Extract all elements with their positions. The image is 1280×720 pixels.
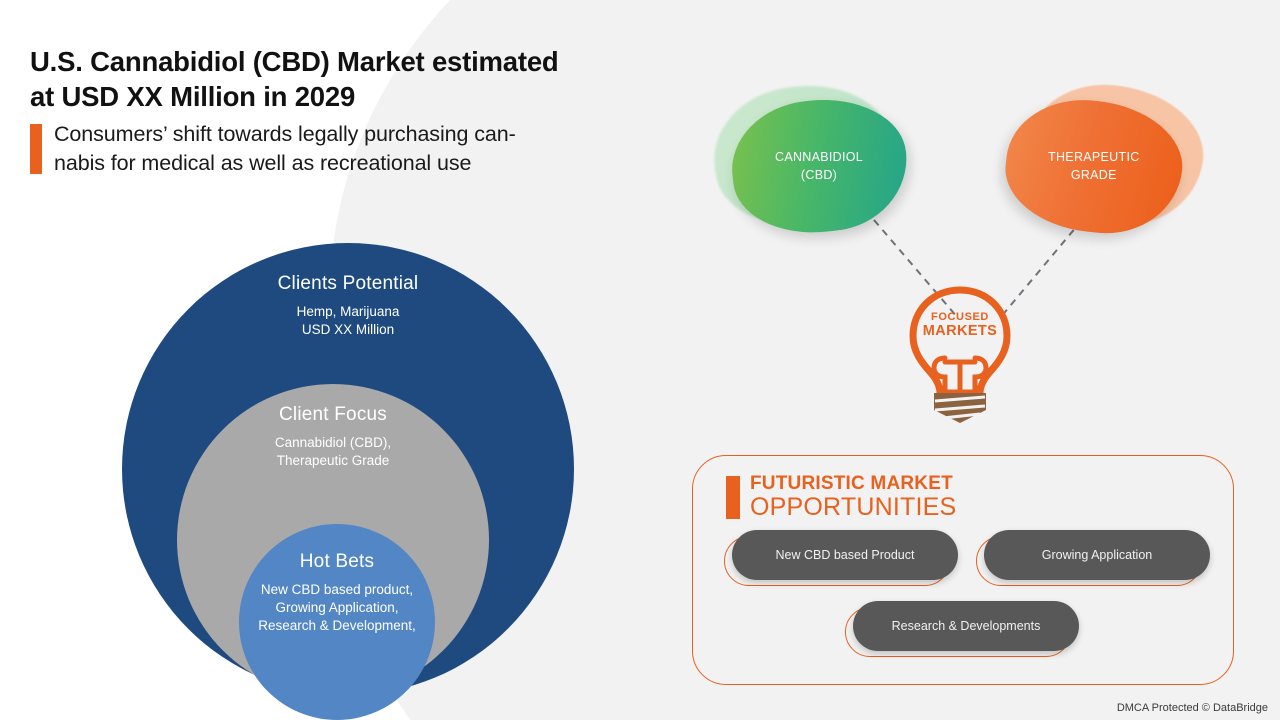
focus-blob-cannabidiol[interactable]: CANNABIDIOL (CBD): [712, 88, 912, 238]
panel-title: FUTURISTIC MARKET OPPORTUNITIES: [750, 474, 956, 520]
focus-blob-cannabidiol-line-1: CANNABIDIOL: [775, 150, 863, 164]
page-title-line-1: U.S. Cannabidiol (CBD) Market estimated: [30, 46, 559, 77]
circle-clients-potential-detail-line-1: Hemp, Marijuana: [297, 304, 400, 319]
circle-hot-bets[interactable]: Hot Bets New CBD based product, Growing …: [239, 524, 435, 720]
panel-title-line-2: OPPORTUNITIES: [750, 494, 956, 520]
subheadline-row: Consumers’ shift towards legally purchas…: [30, 120, 710, 177]
subheadline: Consumers’ shift towards legally purchas…: [54, 120, 516, 177]
page-title: U.S. Cannabidiol (CBD) Market estimated …: [30, 44, 710, 114]
circle-hot-bets-title: Hot Bets: [300, 551, 374, 573]
futuristic-market-opportunities-panel: FUTURISTIC MARKET OPPORTUNITIES: [692, 455, 1234, 685]
subheadline-line-2: nabis for medical as well as recreationa…: [54, 151, 471, 175]
dmca-footer: DMCA Protected © DataBridge: [1117, 702, 1268, 714]
circle-hot-bets-detail-line-2: Growing Application,: [275, 600, 398, 615]
focus-blob-therapeutic-grade[interactable]: THERAPEUTIC GRADE: [1003, 88, 1203, 238]
panel-title-row: FUTURISTIC MARKET OPPORTUNITIES: [726, 474, 956, 520]
lightbulb-icon: [898, 284, 1022, 424]
focus-blob-therapeutic-grade-line-1: THERAPEUTIC: [1048, 150, 1140, 164]
circle-hot-bets-detail: New CBD based product, Growing Applicati…: [258, 581, 416, 636]
page-title-line-2: at USD XX Million in 2029: [30, 81, 355, 112]
circle-clients-potential-detail: Hemp, Marijuana USD XX Million: [297, 303, 400, 339]
lightbulb-focused-markets[interactable]: FOCUSED MARKETS: [898, 284, 1022, 424]
focus-blob-therapeutic-grade-line-2: GRADE: [1071, 168, 1117, 182]
slide-canvas: U.S. Cannabidiol (CBD) Market estimated …: [0, 0, 1280, 720]
panel-accent-bar-icon: [726, 476, 740, 519]
focus-blob-cannabidiol-label: CANNABIDIOL (CBD): [775, 148, 863, 184]
circle-clients-potential-title: Clients Potential: [278, 273, 419, 295]
circle-clients-potential-detail-line-2: USD XX Million: [302, 322, 394, 337]
orange-accent-bar-icon: [30, 124, 42, 174]
concentric-circles-diagram: Clients Potential Hemp, Marijuana USD XX…: [122, 243, 574, 695]
subheadline-line-1: Consumers’ shift towards legally purchas…: [54, 122, 516, 146]
circle-hot-bets-detail-line-3: Research & Development,: [258, 618, 416, 633]
circle-client-focus-title: Client Focus: [279, 404, 387, 426]
focus-blob-cannabidiol-line-2: (CBD): [801, 168, 837, 182]
headline-block: U.S. Cannabidiol (CBD) Market estimated …: [30, 44, 710, 178]
circle-hot-bets-detail-line-1: New CBD based product,: [261, 582, 413, 597]
circle-client-focus-detail-line-1: Cannabidiol (CBD),: [275, 435, 391, 450]
circle-client-focus-detail-line-2: Therapeutic Grade: [277, 453, 390, 468]
panel-title-line-1: FUTURISTIC MARKET: [750, 474, 956, 494]
circle-client-focus-detail: Cannabidiol (CBD), Therapeutic Grade: [275, 434, 391, 470]
focus-blob-therapeutic-grade-label: THERAPEUTIC GRADE: [1048, 148, 1140, 184]
